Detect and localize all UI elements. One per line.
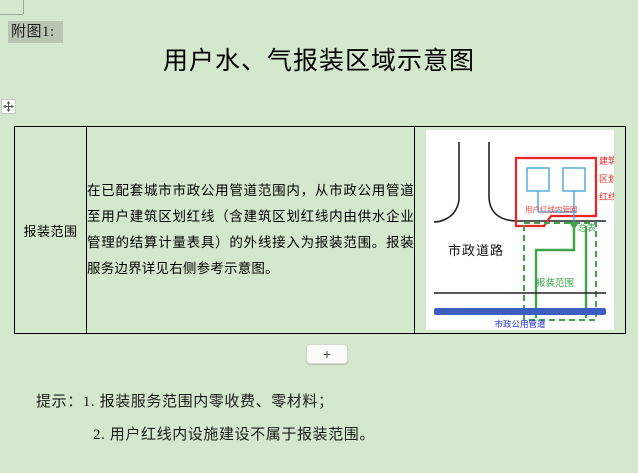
table-move-handle[interactable] — [1, 99, 16, 114]
move-handle-icon — [3, 101, 14, 112]
table-row: 报装范围 在已配套城市市政公用管道范围内，从市政公用管道至用户建筑区划红线（含建… — [15, 127, 626, 334]
scope-table: 报装范围 在已配套城市市政公用管道范围内，从市政公用管道至用户建筑区划红线（含建… — [14, 126, 626, 334]
schematic-diagram[interactable]: 建筑 区划 红线 用户红线内管网 — [426, 130, 614, 330]
municipal-pipe-label: 市政公用管道 — [494, 319, 546, 330]
add-row-button[interactable]: + — [306, 344, 348, 364]
page-margin-guide-vertical — [23, 0, 24, 14]
page-title: 用户水、气报装区域示意图 — [0, 44, 638, 78]
municipal-pipe-bar — [434, 308, 606, 315]
red-line-label: 建筑 区划 红线 — [599, 155, 614, 203]
note-line-1: 提示：1. 报装服务范围内零收费、零材料； — [0, 386, 638, 419]
red-line-label-line2: 区划 — [599, 173, 614, 185]
road-label: 市政道路 — [448, 243, 504, 259]
table-cell-figure: 建筑 区划 红线 用户红线内管网 — [415, 127, 626, 334]
note-line-2: 2. 用户红线内设施建设不属于报装范围。 — [0, 419, 638, 452]
page-margin-guide-horizontal — [0, 14, 23, 15]
table-row-label: 报装范围 — [15, 127, 87, 334]
master-meter-label: 总表 — [578, 222, 596, 234]
red-line-label-line3: 红线 — [599, 191, 614, 203]
document-page: 附图1: 用户水、气报装区域示意图 报装范围 在已配套城市市政公用管道范围内，从… — [0, 0, 638, 473]
inner-network-label: 用户红线内管网 — [525, 204, 578, 214]
figure-label: 附图1: — [8, 21, 63, 43]
footer-notes: 提示：1. 报装服务范围内零收费、零材料； 2. 用户红线内设施建设不属于报装范… — [0, 386, 638, 452]
scope-label: 报装范围 — [536, 277, 574, 289]
table-cell-description: 在已配套城市市政公用管道范围内，从市政公用管道至用户建筑区划红线（含建筑区划红线… — [87, 127, 415, 334]
scope-description-text: 在已配套城市市政公用管道范围内，从市政公用管道至用户建筑区划红线（含建筑区划红线… — [87, 178, 414, 282]
red-line-label-line1: 建筑 — [599, 155, 614, 167]
